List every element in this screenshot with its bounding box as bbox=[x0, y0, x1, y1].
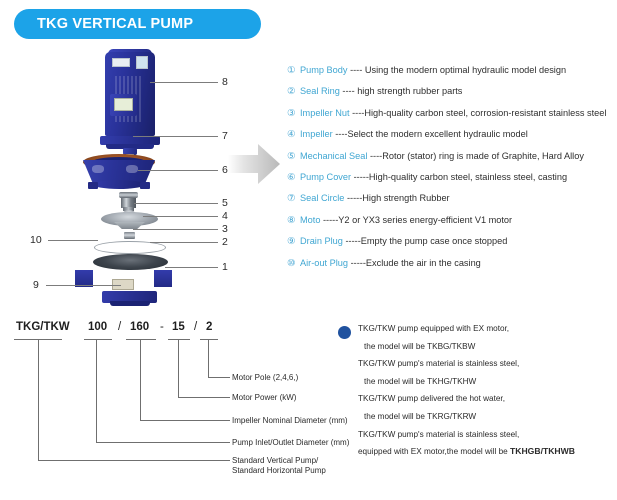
list-item: ③Impeller Nut ----High-quality carbon st… bbox=[287, 103, 617, 124]
callout-number-5: 5 bbox=[222, 197, 228, 209]
model-label-impeller: Impeller Nominal Diameter (mm) bbox=[232, 416, 348, 425]
pump-cover-window-left bbox=[92, 165, 104, 173]
model-code-breakdown: TKG/TKW 100 / 160 - 15 / 2 Motor Pole (2… bbox=[0, 305, 340, 500]
callout-number-1: 1 bbox=[222, 261, 228, 273]
pump-cover-window-right bbox=[126, 165, 138, 173]
pump-cover-foot-left bbox=[88, 182, 98, 189]
model-underline-power bbox=[168, 339, 190, 340]
model-separator-1: / bbox=[118, 321, 121, 333]
model-variant-notes: TKG/TKW pump equipped with EX motor, the… bbox=[336, 320, 617, 461]
pump-spec-page: TKG VERTICAL PUMP bbox=[0, 0, 617, 500]
model-run-inlet bbox=[96, 442, 230, 443]
legend-description: -----High strength Rubber bbox=[347, 193, 450, 203]
model-token-pole: 2 bbox=[206, 321, 212, 333]
list-item: ⑧Moto -----Y2 or YX3 series energy-effic… bbox=[287, 210, 617, 231]
legend-number: ⑧ bbox=[287, 210, 300, 231]
note-line: the model will be TKRG/TKRW bbox=[364, 408, 617, 426]
note-line: the model will be TKHG/TKHW bbox=[364, 373, 617, 391]
callout-number-9: 9 bbox=[33, 279, 39, 291]
legend-number: ⑤ bbox=[287, 146, 300, 167]
legend-description: ----Select the modern excellent hydrauli… bbox=[335, 129, 528, 139]
pump-body-opening bbox=[93, 254, 168, 270]
right-arrow-icon bbox=[228, 142, 280, 186]
legend-description: -----Empty the pump case once stopped bbox=[345, 236, 507, 246]
legend-number: ⑦ bbox=[287, 188, 300, 209]
legend-part-name: Seal Circle bbox=[300, 193, 344, 203]
legend-number: ⑥ bbox=[287, 167, 300, 188]
model-separator-2: - bbox=[160, 321, 164, 333]
parts-legend-list: ①Pump Body ---- Using the modern optimal… bbox=[287, 60, 617, 274]
pump-cover-base bbox=[93, 180, 145, 189]
list-item: ④Impeller ----Select the modern excellen… bbox=[287, 124, 617, 145]
legend-part-name: Moto bbox=[300, 215, 320, 225]
impeller-nut bbox=[124, 232, 135, 239]
model-drop-impeller bbox=[140, 339, 141, 420]
model-drop-series bbox=[38, 339, 39, 460]
legend-description: -----Exclude the air in the casing bbox=[351, 258, 481, 268]
page-title: TKG VERTICAL PUMP bbox=[37, 16, 193, 32]
list-item: ②Seal Ring ---- high strength rubber par… bbox=[287, 81, 617, 102]
legend-description: ---- high strength rubber parts bbox=[342, 86, 462, 96]
legend-part-name: Impeller Nut bbox=[300, 108, 350, 118]
list-item: ①Pump Body ---- Using the modern optimal… bbox=[287, 60, 617, 81]
model-run-series bbox=[38, 460, 230, 461]
note-line: TKG/TKW pump delivered the hot water, bbox=[358, 390, 617, 408]
callout-line-6 bbox=[138, 170, 218, 171]
legend-part-name: Impeller bbox=[300, 129, 333, 139]
motor-nameplate bbox=[112, 58, 130, 67]
callout-line-4 bbox=[143, 216, 218, 217]
legend-description: -----Y2 or YX3 series energy-efficient V… bbox=[323, 215, 512, 225]
callout-number-6: 6 bbox=[222, 164, 228, 176]
model-run-pole bbox=[208, 377, 230, 378]
note-line: TKG/TKW pump's material is stainless ste… bbox=[358, 355, 617, 373]
note-line: TKG/TKW pump's material is stainless ste… bbox=[358, 426, 617, 444]
legend-part-name: Mechanical Seal bbox=[300, 151, 367, 161]
legend-description: -----High-quality carbon steel, stainles… bbox=[354, 172, 567, 182]
legend-number: ① bbox=[287, 60, 300, 81]
legend-number: ④ bbox=[287, 124, 300, 145]
page-title-banner: TKG VERTICAL PUMP bbox=[14, 9, 261, 39]
legend-number: ⑨ bbox=[287, 231, 300, 252]
model-label-pole: Motor Pole (2,4,6,) bbox=[232, 373, 298, 382]
motor-terminal-plate bbox=[114, 98, 133, 111]
impeller-skirt bbox=[112, 222, 147, 229]
note-line: TKG/TKW pump equipped with EX motor, bbox=[358, 320, 617, 338]
model-underline-pole bbox=[200, 339, 218, 340]
legend-description: ---- Using the modern optimal hydraulic … bbox=[350, 65, 566, 75]
list-item: ⑥Pump Cover -----High-quality carbon ste… bbox=[287, 167, 617, 188]
list-item: ⑩Air-out Plug -----Exclude the air in th… bbox=[287, 253, 617, 274]
bullet-icon bbox=[338, 326, 351, 339]
note-final-prefix: equipped with EX motor,the model will be bbox=[358, 447, 510, 456]
list-item: ⑦Seal Circle -----High strength Rubber bbox=[287, 188, 617, 209]
pump-cover-foot-right bbox=[140, 182, 150, 189]
legend-part-name: Seal Ring bbox=[300, 86, 340, 96]
model-drop-power bbox=[178, 339, 179, 397]
model-token-inlet: 100 bbox=[88, 321, 107, 333]
callout-line-7 bbox=[133, 136, 218, 137]
callout-number-10: 10 bbox=[30, 234, 42, 246]
legend-part-name: Drain Plug bbox=[300, 236, 343, 246]
model-run-impeller bbox=[140, 420, 230, 421]
model-label-power: Motor Power (kW) bbox=[232, 393, 296, 402]
callout-number-8: 8 bbox=[222, 76, 228, 88]
model-underline-inlet bbox=[84, 339, 112, 340]
motor-label bbox=[136, 56, 148, 69]
model-token-power: 15 bbox=[172, 321, 185, 333]
legend-number: ③ bbox=[287, 103, 300, 124]
callout-number-2: 2 bbox=[222, 236, 228, 248]
model-underline-impeller bbox=[126, 339, 156, 340]
legend-description: ----High-quality carbon steel, corrosion… bbox=[352, 108, 606, 118]
model-drop-inlet bbox=[96, 339, 97, 442]
callout-line-9 bbox=[46, 285, 121, 286]
legend-description: ----Rotor (stator) ring is made of Graph… bbox=[370, 151, 584, 161]
model-separator-3: / bbox=[194, 321, 197, 333]
pump-inlet-flange bbox=[59, 260, 76, 295]
legend-part-name: Air-out Plug bbox=[300, 258, 348, 268]
model-token-impeller: 160 bbox=[130, 321, 149, 333]
note-final-model: TKHGB/TKHWB bbox=[510, 446, 575, 456]
note-line: the model will be TKBG/TKBW bbox=[364, 338, 617, 356]
list-item: ⑨Drain Plug -----Empty the pump case onc… bbox=[287, 231, 617, 252]
model-label-inlet: Pump Inlet/Outlet Diameter (mm) bbox=[232, 438, 349, 447]
callout-line-5 bbox=[134, 203, 218, 204]
callout-line-10 bbox=[48, 240, 98, 241]
legend-part-name: Pump Body bbox=[300, 65, 348, 75]
legend-number: ② bbox=[287, 81, 300, 102]
legend-part-name: Pump Cover bbox=[300, 172, 351, 182]
model-drop-pole bbox=[208, 339, 209, 377]
model-run-power bbox=[178, 397, 230, 398]
callout-line-1 bbox=[165, 267, 218, 268]
model-token-series: TKG/TKW bbox=[16, 321, 70, 333]
note-line-final: equipped with EX motor,the model will be… bbox=[358, 443, 617, 461]
legend-number: ⑩ bbox=[287, 253, 300, 274]
callout-line-3 bbox=[133, 229, 218, 230]
callout-number-7: 7 bbox=[222, 130, 228, 142]
callout-number-4: 4 bbox=[222, 210, 228, 222]
callout-line-8 bbox=[150, 82, 218, 83]
pump-outlet-flange bbox=[171, 260, 188, 295]
callout-number-3: 3 bbox=[222, 223, 228, 235]
callout-line-2 bbox=[150, 242, 218, 243]
model-label-series: Standard Vertical Pump/ Standard Horizon… bbox=[232, 456, 326, 476]
list-item: ⑤Mechanical Seal ----Rotor (stator) ring… bbox=[287, 146, 617, 167]
